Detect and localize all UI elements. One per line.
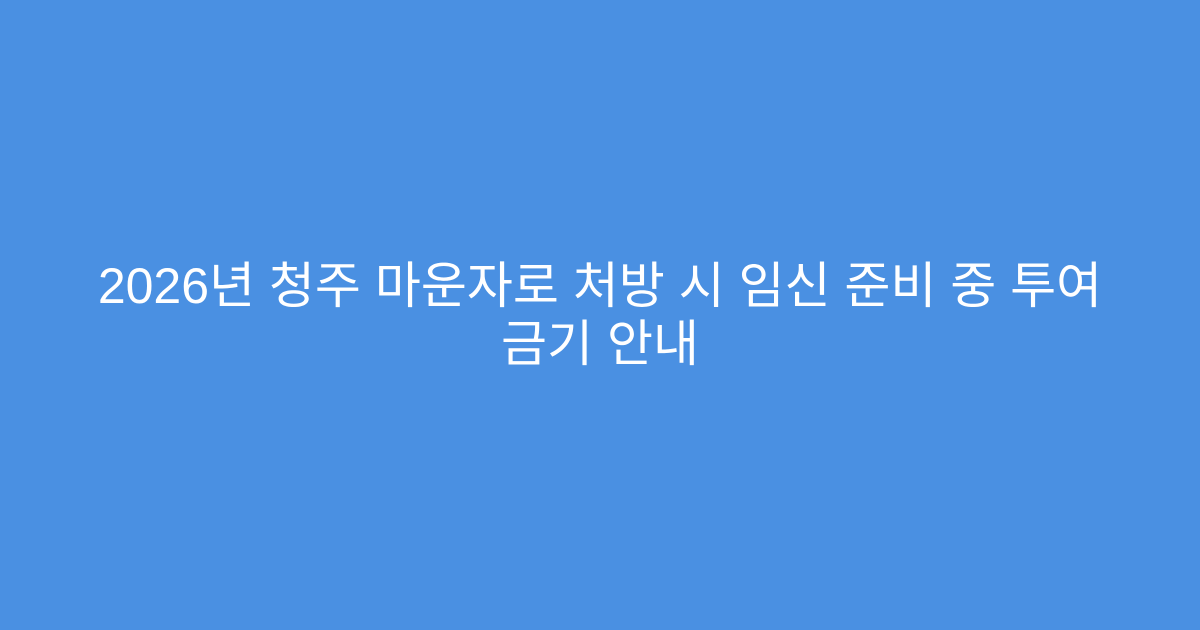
page-title: 2026년 청주 마운자로 처방 시 임신 준비 중 투여 금기 안내 <box>88 257 1112 373</box>
banner-card: 2026년 청주 마운자로 처방 시 임신 준비 중 투여 금기 안내 <box>0 0 1200 630</box>
headline-container: 2026년 청주 마운자로 처방 시 임신 준비 중 투여 금기 안내 <box>88 257 1112 373</box>
